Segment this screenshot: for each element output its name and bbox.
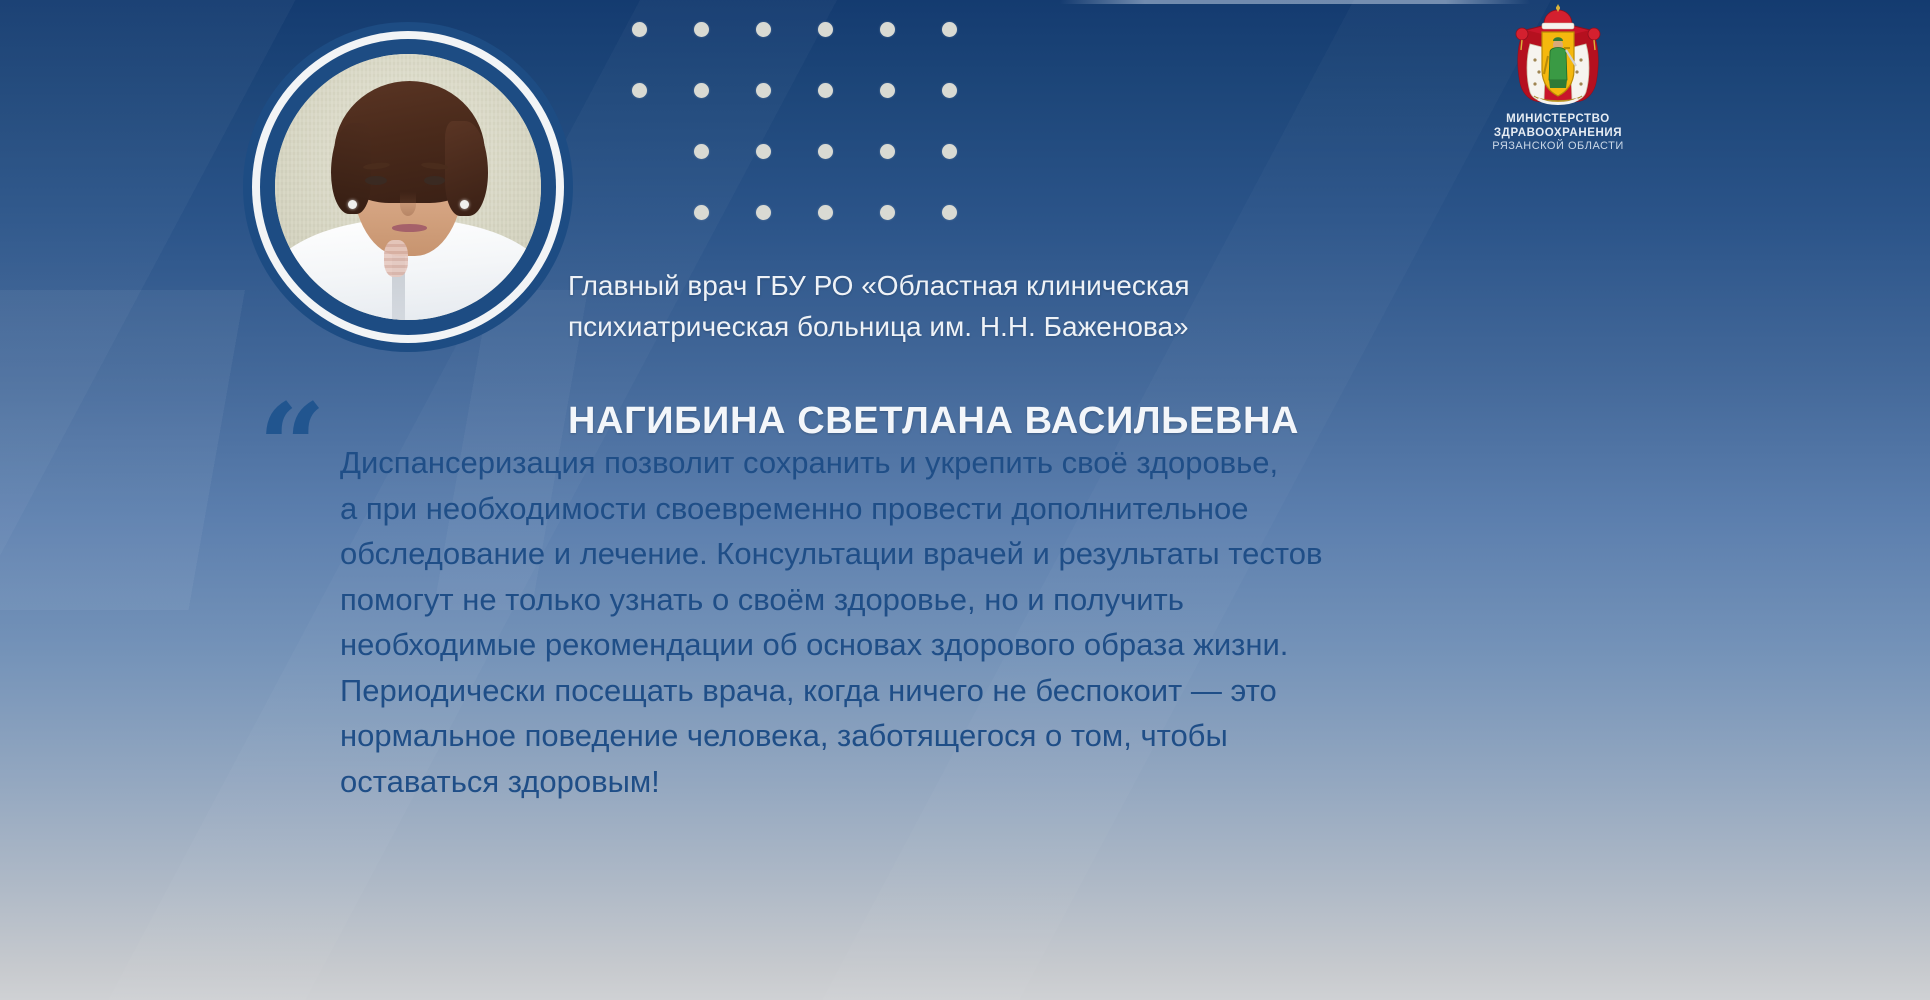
decorative-dot <box>756 144 771 159</box>
decorative-dot <box>880 205 895 220</box>
quote-line: нормальное поведение человека, заботящег… <box>340 713 1560 759</box>
portrait-earring-right <box>460 200 469 209</box>
decorative-dot <box>694 83 709 98</box>
decorative-dot <box>818 22 833 37</box>
ministry-logo-text: МИНИСТЕРСТВО ЗДРАВООХРАНЕНИЯ РЯЗАНСКОЙ О… <box>1478 112 1638 153</box>
decorative-dot <box>880 144 895 159</box>
doctor-position-subtitle: Главный врач ГБУ РО «Областная клиническ… <box>568 265 1428 347</box>
ministry-line-3: РЯЗАНСКОЙ ОБЛАСТИ <box>1478 140 1638 153</box>
decorative-dot <box>942 83 957 98</box>
top-highlight-strip <box>1060 0 1530 4</box>
quote-line: а при необходимости своевременно провест… <box>340 486 1560 532</box>
decorative-dot <box>942 205 957 220</box>
portrait-photo <box>275 54 541 320</box>
decorative-dot <box>942 22 957 37</box>
decorative-dot <box>756 22 771 37</box>
decorative-dot <box>694 22 709 37</box>
portrait-mouth <box>392 224 427 231</box>
quote-line: Периодически посещать врача, когда ничег… <box>340 668 1560 714</box>
dot-grid-decoration <box>632 22 1032 222</box>
quote-line: необходимые рекомендации об основах здор… <box>340 622 1560 668</box>
poster-canvas: МИНИСТЕРСТВО ЗДРАВООХРАНЕНИЯ РЯЗАНСКОЙ О… <box>0 0 1930 1000</box>
decorative-dot <box>632 22 647 37</box>
decorative-dot <box>880 83 895 98</box>
ministry-line-1: МИНИСТЕРСТВО <box>1478 112 1638 126</box>
ministry-line-2: ЗДРАВООХРАНЕНИЯ <box>1478 126 1638 140</box>
coat-of-arms-icon <box>1478 4 1638 108</box>
quote-line: обследование и лечение. Консультации вра… <box>340 531 1560 577</box>
decorative-dot <box>694 144 709 159</box>
decorative-dot <box>694 205 709 220</box>
decorative-dot <box>942 144 957 159</box>
decorative-dot <box>818 83 833 98</box>
decorative-dot <box>818 144 833 159</box>
decorative-dot <box>818 205 833 220</box>
decorative-dot <box>756 205 771 220</box>
subtitle-line-1: Главный врач ГБУ РО «Областная клиническ… <box>568 265 1428 306</box>
portrait-necklace <box>384 240 408 277</box>
quote-line: Диспансеризация позволит сохранить и укр… <box>340 440 1560 486</box>
quote-text: Диспансеризация позволит сохранить и укр… <box>340 440 1560 804</box>
quote-line: оставаться здоровым! <box>340 759 1560 805</box>
decorative-dot <box>756 83 771 98</box>
decorative-dot <box>632 83 647 98</box>
doctor-portrait <box>243 22 573 352</box>
subtitle-line-2: психиатрическая больница им. Н.Н. Бажено… <box>568 306 1428 347</box>
ministry-logo: МИНИСТЕРСТВО ЗДРАВООХРАНЕНИЯ РЯЗАНСКОЙ О… <box>1478 4 1638 153</box>
decorative-dot <box>880 22 895 37</box>
quote-mark-icon: “ <box>258 388 326 506</box>
doctor-name: НАГИБИНА СВЕТЛАНА ВАСИЛЬЕВНА <box>568 400 1299 443</box>
quote-line: помогут не только узнать о своём здоровь… <box>340 577 1560 623</box>
